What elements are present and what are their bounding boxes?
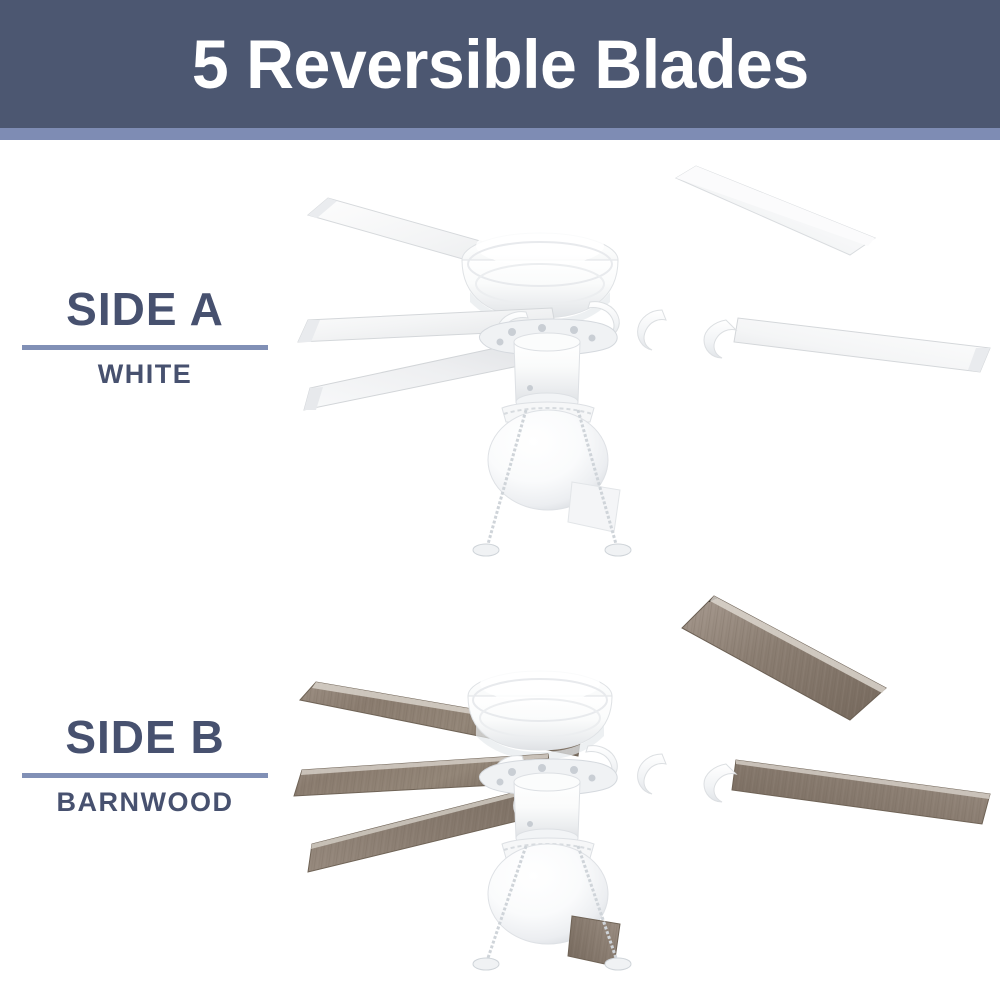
pull-chain-left-finial bbox=[473, 958, 499, 970]
header-banner: 5 Reversible Blades bbox=[0, 0, 1000, 128]
pull-chain-right-finial bbox=[605, 958, 631, 970]
side-b-subtitle: BARNWOOD bbox=[0, 788, 290, 816]
side-a-title: SIDE A bbox=[0, 285, 290, 333]
fan-blade-right bbox=[734, 318, 990, 372]
pull-chain-right-finial bbox=[605, 544, 631, 556]
fan-blade-group-front bbox=[294, 746, 990, 872]
fan-light-kit bbox=[488, 838, 620, 966]
fan-light-kit bbox=[488, 402, 620, 532]
fan-center-collar bbox=[514, 333, 580, 411]
side-a-divider bbox=[22, 345, 268, 350]
side-a-label-block: SIDE A WHITE bbox=[0, 285, 290, 389]
header-accent-bar bbox=[0, 128, 1000, 140]
side-b-label-block: SIDE B BARNWOOD bbox=[0, 713, 290, 817]
fan-blade-group-front bbox=[298, 302, 990, 411]
side-b-title: SIDE B bbox=[0, 713, 290, 761]
product-feature-image: 5 Reversible Blades SIDE A WHITE SIDE B … bbox=[0, 0, 1000, 1000]
pull-chain-left-finial bbox=[473, 544, 499, 556]
ceiling-fan-white-image bbox=[290, 160, 1000, 570]
fan-blade-right bbox=[732, 760, 990, 824]
page-title: 5 Reversible Blades bbox=[192, 30, 809, 99]
ceiling-fan-barnwood-image bbox=[290, 580, 1000, 980]
fan-blade-upper-right bbox=[682, 596, 886, 720]
side-a-subtitle: WHITE bbox=[0, 360, 290, 388]
side-b-divider bbox=[22, 773, 268, 778]
fan-center-collar bbox=[514, 773, 580, 847]
